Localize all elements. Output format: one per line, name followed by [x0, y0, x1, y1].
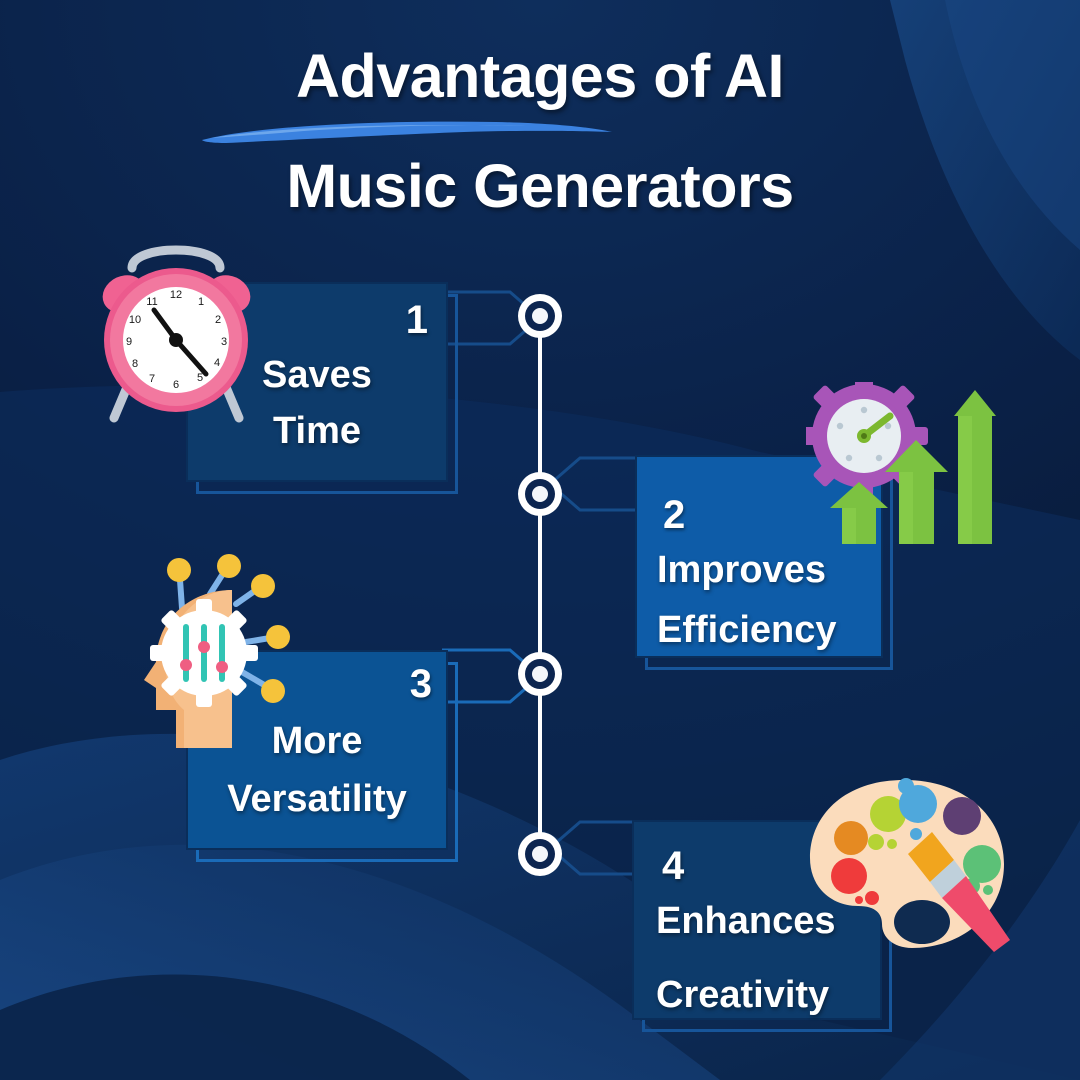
timeline-node-3[interactable]	[518, 652, 562, 696]
svg-text:3: 3	[221, 336, 227, 348]
timeline-node-core	[532, 666, 548, 682]
timeline-node-core	[532, 846, 548, 862]
page-title: Advantages of AI Music Generators	[0, 42, 1080, 221]
card-number: 4	[662, 844, 684, 889]
svg-text:8: 8	[132, 358, 138, 370]
svg-text:7: 7	[149, 373, 155, 385]
timeline-node-1[interactable]	[518, 294, 562, 338]
card-number: 2	[663, 493, 685, 538]
paint-palette-brush-icon	[796, 772, 1016, 952]
alarm-clock-icon: 1212 345 678 91011	[86, 232, 266, 428]
card-label-line-2: Efficiency	[657, 605, 837, 656]
timeline-node-core	[532, 308, 548, 324]
card-label-line-1: Improves	[657, 545, 826, 596]
card-label-line-2: Versatility	[186, 774, 448, 825]
timeline-node-2[interactable]	[518, 472, 562, 516]
svg-text:11: 11	[146, 296, 157, 308]
svg-text:10: 10	[129, 314, 141, 326]
timeline-node-core	[532, 486, 548, 502]
svg-text:6: 6	[173, 379, 179, 391]
connector-card-2	[540, 436, 650, 616]
title-line-1: Advantages of AI	[0, 42, 1080, 110]
card-label-line-2: Creativity	[656, 970, 829, 1021]
head-brain-gear-icon	[136, 550, 326, 750]
timeline-node-4[interactable]	[518, 832, 562, 876]
infographic-poster: Advantages of AI Music Generators 1 Save…	[0, 0, 1080, 1080]
svg-text:1: 1	[198, 296, 204, 308]
title-line-2: Music Generators	[0, 152, 1080, 220]
svg-text:12: 12	[170, 289, 182, 301]
svg-text:4: 4	[214, 357, 220, 369]
card-number: 1	[406, 298, 428, 343]
svg-text:9: 9	[126, 336, 132, 348]
svg-text:2: 2	[215, 314, 221, 326]
gear-gauge-growth-arrows-icon	[806, 382, 996, 550]
card-number: 3	[410, 662, 432, 707]
svg-text:5: 5	[197, 372, 203, 384]
